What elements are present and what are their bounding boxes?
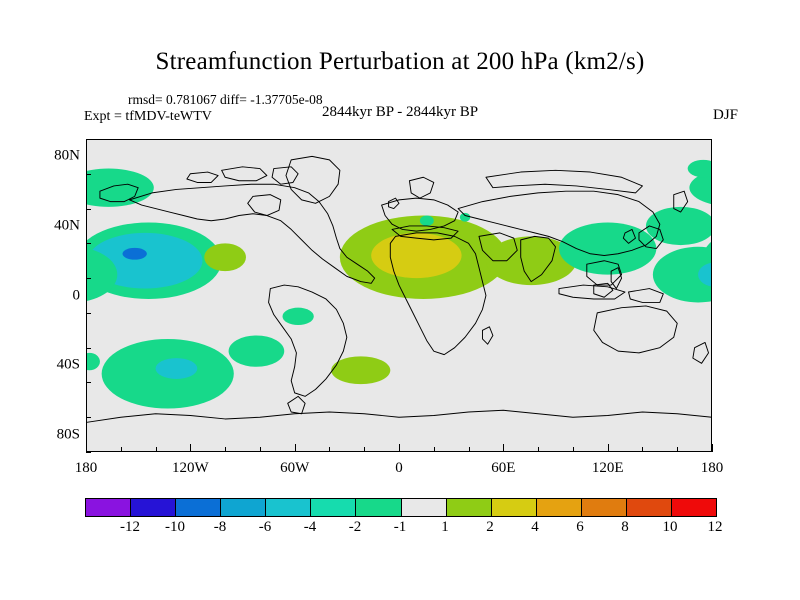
- colorbar-swatch: [130, 499, 175, 516]
- colorbar-tick-label: -2: [349, 519, 362, 536]
- colorbar-swatch: [581, 499, 626, 516]
- colorbar-tick-label: 2: [486, 519, 494, 536]
- x-tick: [608, 444, 609, 452]
- contour-southern-ocean-sliver-left: [86, 353, 100, 370]
- y-tick: [86, 382, 91, 383]
- x-tick: [677, 447, 678, 452]
- coastline-arctic-islands-2: [187, 172, 218, 182]
- x-tick: [190, 444, 191, 452]
- contour-northwest-pacific-negative: [646, 207, 712, 245]
- colorbar-swatch: [310, 499, 355, 516]
- coastline-antarctic-peninsula: [288, 396, 305, 413]
- colorbar-tick-label: -8: [214, 519, 227, 536]
- contour-east-asia-negative: [559, 222, 656, 274]
- x-axis-label: 60E: [491, 460, 515, 477]
- contour-south-pacific-core: [156, 358, 198, 379]
- colorbar-swatch: [671, 499, 716, 516]
- coastline-uk: [389, 198, 399, 208]
- x-tick: [156, 447, 157, 452]
- y-tick: [86, 174, 91, 175]
- colorbar-tick-label: 4: [531, 519, 539, 536]
- colorbar-swatch: [446, 499, 491, 516]
- coastline-siberia-north: [486, 170, 643, 193]
- coastline-canadian-arctic: [222, 167, 267, 181]
- y-tick: [86, 452, 91, 453]
- colorbar-tick-label: -1: [394, 519, 407, 536]
- x-tick: [469, 447, 470, 452]
- x-tick: [86, 444, 87, 452]
- colorbar-tick-label: 1: [441, 519, 449, 536]
- map-plot-area: [86, 139, 712, 452]
- y-tick: [86, 243, 91, 244]
- coastline-baffin: [272, 167, 298, 184]
- colorbar-swatch: [175, 499, 220, 516]
- y-axis-label: 0: [40, 287, 80, 304]
- colorbar-swatch: [86, 499, 130, 516]
- contour-mediterranean-negative: [420, 216, 434, 226]
- y-tick: [86, 278, 91, 279]
- rmsd-annotation: rmsd= 0.781067 diff= -1.37705e-08: [128, 92, 323, 108]
- contour-southeast-pacific: [229, 335, 285, 366]
- colorbar-swatch: [536, 499, 581, 516]
- coastline-australia: [594, 306, 677, 353]
- coastline-hudson-bay: [248, 195, 281, 216]
- x-tick: [121, 447, 122, 452]
- x-tick: [538, 447, 539, 452]
- y-axis-label: 80N: [40, 148, 80, 165]
- colorbar-swatch: [626, 499, 671, 516]
- contour-south-america-negative: [282, 308, 313, 325]
- colorbar-tick-label: -6: [259, 519, 272, 536]
- contour-mexico-positive: [204, 243, 246, 271]
- colorbar: [85, 498, 717, 517]
- x-axis-label: 120W: [172, 460, 209, 477]
- x-tick: [295, 444, 296, 452]
- colorbar-swatch: [491, 499, 536, 516]
- x-tick: [503, 444, 504, 452]
- coastline-madagascar: [482, 327, 492, 344]
- contour-south-atlantic-positive: [331, 356, 390, 384]
- y-tick: [86, 313, 91, 314]
- contour-hawaii-core: [123, 248, 147, 260]
- y-axis-label: 80S: [40, 426, 80, 443]
- coastline-scandinavia: [409, 177, 433, 198]
- coastline-new-guinea: [629, 289, 664, 303]
- y-tick: [86, 139, 91, 140]
- x-axis-label: 120E: [592, 460, 624, 477]
- colorbar-tick-label: -4: [304, 519, 317, 536]
- colorbar-tick-label: 8: [621, 519, 629, 536]
- colorbar-swatch: [401, 499, 446, 516]
- y-axis-label: 40S: [40, 357, 80, 374]
- colorbar-tick-label: -10: [165, 519, 185, 536]
- x-tick: [399, 444, 400, 452]
- colorbar-tick-label: 12: [708, 519, 723, 536]
- y-axis-label: 40N: [40, 217, 80, 234]
- contour-north-africa-core: [371, 233, 461, 278]
- x-tick: [329, 447, 330, 452]
- colorbar-swatch: [355, 499, 400, 516]
- x-tick: [364, 447, 365, 452]
- x-axis-label: 180: [75, 460, 98, 477]
- colorbar-tick-label: 10: [663, 519, 678, 536]
- colorbar-tick-label: -12: [120, 519, 140, 536]
- x-tick: [225, 447, 226, 452]
- x-tick: [260, 447, 261, 452]
- period-annotation: 2844kyr BP - 2844kyr BP: [322, 104, 478, 121]
- colorbar-swatch: [220, 499, 265, 516]
- season-annotation: DJF: [713, 107, 738, 124]
- x-tick: [434, 447, 435, 452]
- x-axis-label: 60W: [280, 460, 309, 477]
- x-tick: [642, 447, 643, 452]
- coastline-south-america: [269, 285, 347, 396]
- x-tick: [712, 444, 713, 452]
- y-tick: [86, 348, 91, 349]
- contour-arctic-sliver: [688, 160, 712, 177]
- page-title: Streamfunction Perturbation at 200 hPa (…: [0, 48, 800, 76]
- x-axis-label: 0: [395, 460, 403, 477]
- experiment-annotation: Expt = tfMDV-teWTV: [84, 109, 212, 125]
- contour-alaska-bering: [86, 169, 154, 207]
- colorbar-swatch: [265, 499, 310, 516]
- contour-caspian-negative: [460, 213, 470, 222]
- world-map-contours: [86, 139, 712, 452]
- x-axis-label: 180: [701, 460, 724, 477]
- colorbar-tick-label: 6: [576, 519, 584, 536]
- y-tick: [86, 417, 91, 418]
- x-tick: [573, 447, 574, 452]
- figure: Streamfunction Perturbation at 200 hPa (…: [0, 0, 800, 600]
- coastline-antarctica: [86, 410, 712, 422]
- y-tick: [86, 209, 91, 210]
- coastline-new-zealand: [693, 342, 709, 363]
